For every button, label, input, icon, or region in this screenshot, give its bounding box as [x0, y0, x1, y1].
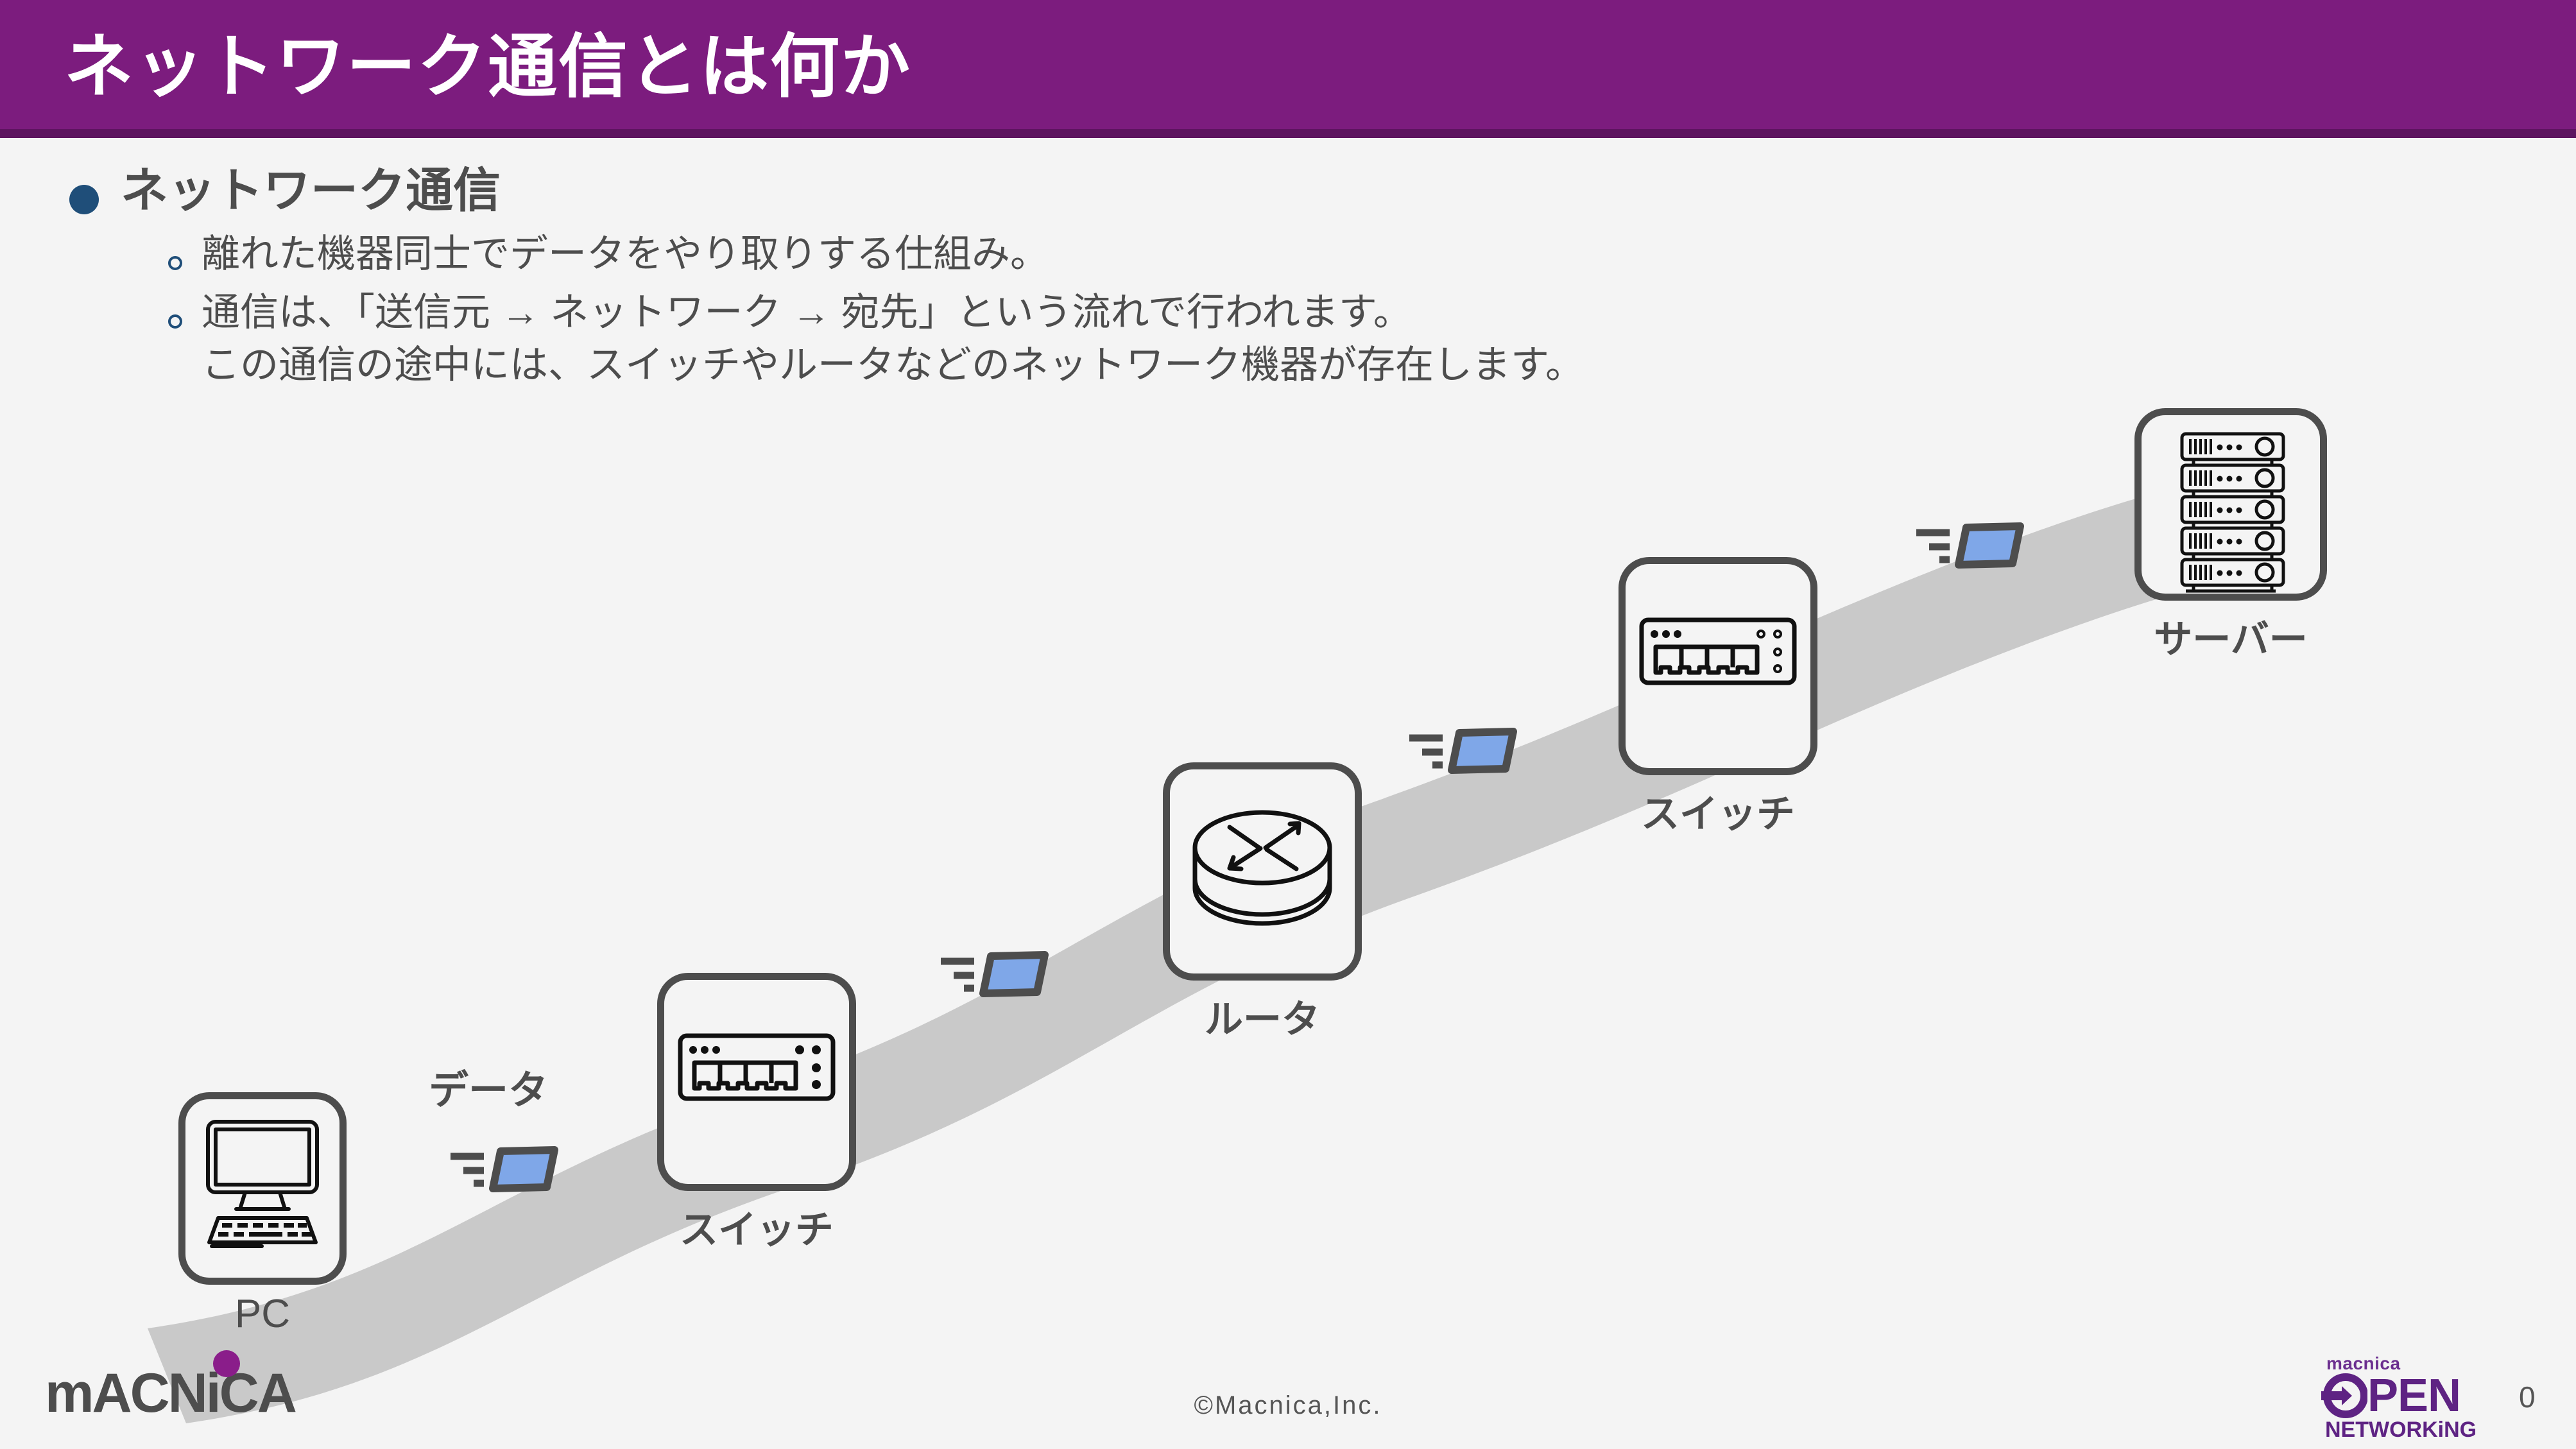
- node-frame: [2134, 408, 2327, 601]
- page-title: ネットワーク通信とは何か: [64, 3, 911, 131]
- bullet-dot-filled-icon: [69, 185, 99, 214]
- bullet-dot-hollow-icon: [168, 314, 182, 329]
- bullet-list: ネットワーク通信 離れた機器同士でデータをやり取りする仕組み。 通信は、「送信元…: [0, 160, 2576, 391]
- node-frame: [178, 1092, 347, 1285]
- node-caption: サーバー: [2134, 608, 2327, 664]
- packet-icon: [444, 1137, 566, 1199]
- flow-label-data: データ: [429, 1058, 548, 1115]
- bullet-level1-label: ネットワーク通信: [121, 160, 501, 221]
- router-icon: [1163, 762, 1362, 981]
- packet-icon: [934, 942, 1056, 1004]
- network-switch-icon: [1619, 557, 1817, 775]
- node-caption: スイッチ: [657, 1199, 856, 1255]
- bullet-level1: ネットワーク通信: [69, 160, 2576, 221]
- packet-icon: [1403, 719, 1525, 780]
- bullet-line: 離れた機器同士でデータをやり取りする仕組み。: [202, 228, 1049, 280]
- macnica-logo: mACNiCA: [45, 1366, 295, 1421]
- node-switch-2[interactable]: スイッチ: [1619, 557, 1817, 775]
- slide-title-bar: ネットワーク通信とは何か: [0, 0, 2576, 138]
- node-caption: PC: [178, 1291, 347, 1337]
- bullet-level2-item-2: 通信は、「送信元 → ネットワーク → 宛先」という流れで行われます。 この通信…: [168, 286, 2576, 391]
- bullet-level2-item-1: 離れた機器同士でデータをやり取りする仕組み。: [168, 228, 2576, 280]
- open-logo-bottom-label: NETWORKiNG: [2325, 1418, 2512, 1441]
- node-frame: [1619, 557, 1817, 775]
- server-rack-icon: [2134, 408, 2327, 601]
- open-networking-logo: macnica PEN NETWORKiNG: [2320, 1354, 2512, 1441]
- open-logo-word: PEN: [2367, 1373, 2460, 1418]
- node-router[interactable]: ルータ: [1163, 762, 1362, 981]
- network-switch-icon: [657, 973, 856, 1191]
- node-frame: [1163, 762, 1362, 981]
- copyright-text: ©Macnica,Inc.: [0, 1391, 2576, 1420]
- packet-icon: [1910, 513, 2032, 575]
- desktop-pc-icon: [178, 1092, 347, 1285]
- arrow-into-circle-icon: [2320, 1372, 2367, 1419]
- node-caption: ルータ: [1163, 988, 1362, 1044]
- open-logo-mid: PEN: [2320, 1373, 2512, 1418]
- bullet-line: 通信は、「送信元 → ネットワーク → 宛先」という流れで行われます。: [202, 286, 1584, 339]
- bullet-dot-hollow-icon: [168, 256, 182, 270]
- bullet-level2-text: 離れた機器同士でデータをやり取りする仕組み。: [202, 228, 1049, 280]
- node-switch-1[interactable]: スイッチ: [657, 973, 856, 1191]
- node-server[interactable]: サーバー: [2134, 408, 2327, 601]
- macnica-wordmark: mACNiCA: [45, 1366, 295, 1421]
- page-number: 0: [2519, 1380, 2536, 1414]
- node-pc[interactable]: PC: [178, 1092, 347, 1285]
- bullet-level2-text: 通信は、「送信元 → ネットワーク → 宛先」という流れで行われます。 この通信…: [202, 286, 1584, 391]
- node-frame: [657, 973, 856, 1191]
- node-caption: スイッチ: [1619, 783, 1817, 839]
- bullet-line: この通信の途中には、スイッチやルータなどのネットワーク機器が存在します。: [202, 339, 1584, 391]
- macnica-dot-icon: [213, 1350, 240, 1377]
